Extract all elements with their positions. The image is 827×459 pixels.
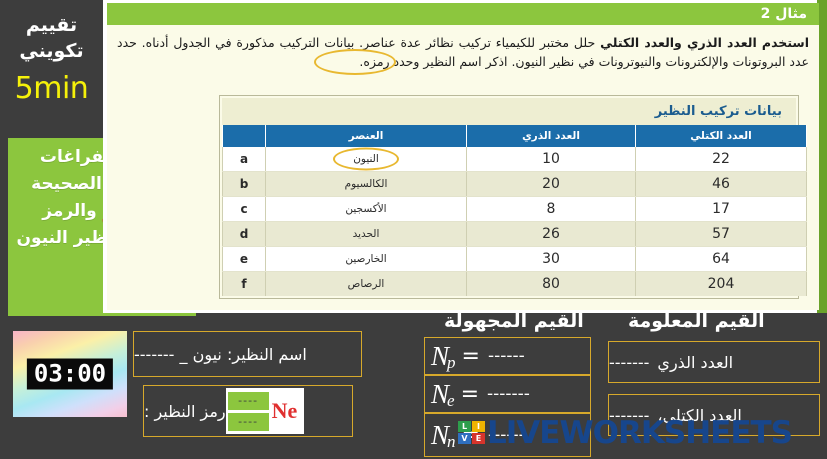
table-row: 5726الحديدd [223, 222, 807, 247]
cell-mass-number: 204 [636, 272, 807, 297]
timer-display: 03:00 [27, 359, 113, 390]
cell-row-index: c [223, 197, 266, 222]
table-header-row: العدد الكتلي العدد الذري العنصر [223, 125, 807, 147]
isotope-symbol-answer-field[interactable]: Ne ---- ---- رمز النظير : [143, 385, 353, 437]
column-header-mass-number: العدد الكتلي [636, 125, 807, 147]
neutron-subscript: n [447, 432, 456, 452]
mass-number-blank[interactable]: ---- [228, 392, 269, 410]
cell-row-index: e [223, 247, 266, 272]
proton-blank: ------ [488, 346, 525, 366]
known-values-heading: القيم المعلومة [628, 310, 765, 332]
cell-element-name: الكالسيوم [266, 172, 467, 197]
column-header-atomic-number: العدد الذري [467, 125, 636, 147]
neutron-blank: ------ [488, 425, 525, 445]
unknown-values-heading: القيم المجهولة [444, 310, 584, 332]
electron-equals-sign: = [461, 382, 479, 407]
electron-subscript: e [447, 391, 455, 411]
cell-row-index: a [223, 147, 266, 172]
isotope-name-label: اسم النظير: نيون _ ------- [134, 345, 307, 364]
electron-blank: ------- [487, 384, 530, 404]
problem-prompt: استخدم العدد الذري والعدد الكتلي حلل مخت… [117, 33, 809, 71]
isotope-symbol-tile: Ne ---- ---- [226, 388, 305, 434]
isotope-data-table-container: بيانات تركيب النظير العدد الكتلي العدد ا… [219, 95, 799, 299]
cell-row-index: f [223, 272, 266, 297]
element-symbol: Ne [269, 398, 301, 424]
table-body: 2210النيونa4620الكالسيومb178الأكسجينc572… [223, 147, 807, 296]
table-row: 178الأكسجينc [223, 197, 807, 222]
cell-row-index: b [223, 172, 266, 197]
column-header-element: العنصر [266, 125, 467, 147]
assessment-duration: 5min [15, 70, 89, 108]
known-mass-number-label: العدد الكتلي، [657, 406, 741, 425]
worksheet-body: استخدم العدد الذري والعدد الكتلي حلل مخت… [107, 25, 819, 310]
electron-count-field[interactable]: Ne = ------- [424, 375, 591, 413]
table-row: 20480الرصاصf [223, 272, 807, 297]
cell-atomic-number: 10 [467, 147, 636, 172]
symbol-number-blanks: ---- ---- [228, 392, 269, 431]
cell-element-name: الخارصين [266, 247, 467, 272]
cell-element-name: الحديد [266, 222, 467, 247]
known-mass-number-field[interactable]: العدد الكتلي، ------- [608, 394, 820, 436]
known-atomic-number-blank: ------- [609, 353, 649, 372]
cell-mass-number: 64 [636, 247, 807, 272]
proton-count-field[interactable]: Np = ------ [424, 337, 591, 375]
cell-atomic-number: 30 [467, 247, 636, 272]
cell-element-name: النيون [266, 147, 467, 172]
isotope-name-answer-field[interactable]: اسم النظير: نيون _ ------- [133, 331, 362, 377]
atomic-number-blank[interactable]: ---- [228, 413, 269, 431]
example-title-bar: مثال 2 [107, 3, 819, 25]
logo-tile-e: E [472, 433, 485, 444]
cell-mass-number: 22 [636, 147, 807, 172]
cell-mass-number: 57 [636, 222, 807, 247]
isotope-data-table: العدد الكتلي العدد الذري العنصر 2210الني… [222, 125, 807, 296]
table-row: 4620الكالسيومb [223, 172, 807, 197]
known-mass-number-blank: ------- [609, 406, 649, 425]
cell-atomic-number: 80 [467, 272, 636, 297]
countdown-timer: 03:00 [13, 331, 127, 417]
cell-mass-number: 46 [636, 172, 807, 197]
formative-assessment-badge: تقييم تكويني 5min [0, 0, 103, 140]
cell-row-index: d [223, 222, 266, 247]
assessment-label-line2: تكويني [19, 38, 83, 64]
assessment-label-line1: تقييم [26, 12, 77, 38]
cell-mass-number: 17 [636, 197, 807, 222]
liveworksheets-logo-icon: L I V E [458, 421, 485, 444]
cell-element-name: الرصاص [266, 272, 467, 297]
cell-atomic-number: 8 [467, 197, 636, 222]
example-title: مثال 2 [761, 6, 807, 22]
cell-atomic-number: 20 [467, 172, 636, 197]
logo-tile-v: V [458, 433, 471, 444]
proton-equals-sign: = [462, 344, 480, 369]
isotope-symbol-label: رمز النظير : [144, 402, 226, 421]
logo-tile-l: L [458, 421, 471, 432]
neutron-count-field[interactable]: Nn = ------ [424, 413, 591, 457]
neon-cell-highlight-ellipse-icon [333, 148, 399, 171]
table-row: 6430الخارصينe [223, 247, 807, 272]
table-caption: بيانات تركيب النظير [222, 98, 796, 125]
cell-atomic-number: 26 [467, 222, 636, 247]
cell-element-name: الأكسجين [266, 197, 467, 222]
column-header-index [223, 125, 266, 147]
table-row: 2210النيونa [223, 147, 807, 172]
known-atomic-number-field[interactable]: العدد الذري ------- [608, 341, 820, 383]
prompt-lead: استخدم العدد الذري والعدد الكتلي [600, 35, 809, 50]
worksheet-screen: تقييم تكويني 5min اكمل الفراغات بالأرقام… [0, 0, 827, 459]
logo-tile-i: I [472, 421, 485, 432]
known-atomic-number-label: العدد الذري [657, 353, 733, 372]
proton-subscript: p [447, 353, 456, 373]
worksheet-card: مثال 2 استخدم العدد الذري والعدد الكتلي … [103, 0, 827, 313]
